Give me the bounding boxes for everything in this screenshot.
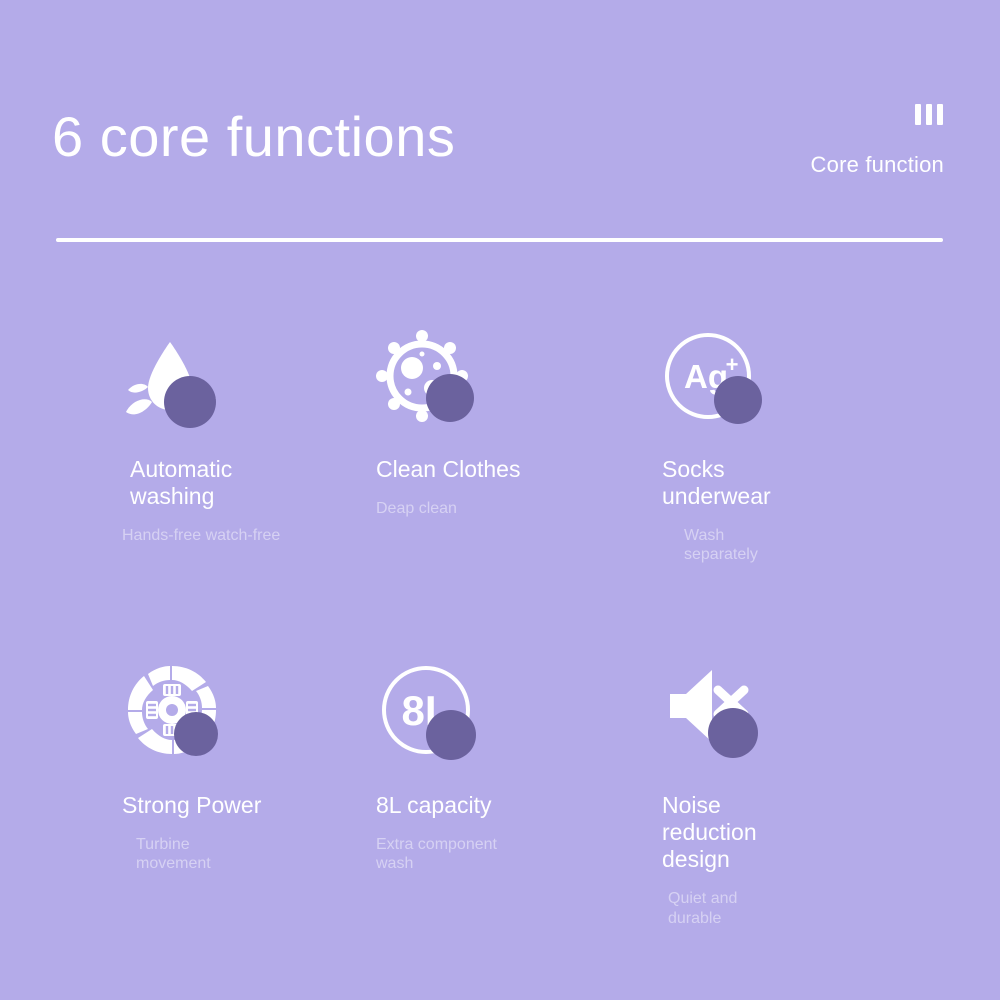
feature-grid: Automatic washing Hands-free watch-free — [56, 330, 944, 990]
feature-title: Noise reduction design — [662, 792, 802, 873]
feature-title: Automatic washing — [122, 456, 282, 510]
feature-subtitle: Deap clean — [376, 499, 556, 518]
water-droplet-icon — [122, 330, 226, 434]
feature-subtitle: Quiet and durable — [662, 889, 762, 927]
accent-blob — [714, 376, 762, 424]
feature-subtitle: Extra component wash — [376, 835, 516, 873]
accent-blob — [164, 376, 216, 428]
feature-subtitle: Turbine movement — [122, 835, 242, 873]
feature-title: Clean Clothes — [376, 456, 556, 483]
feature-card-capacity: 8L 8L capacity Extra component wash — [352, 660, 648, 990]
feature-card-clean-clothes: Clean Clothes Deap clean — [352, 330, 648, 660]
germ-icon — [376, 330, 480, 434]
feature-title: Socks underwear — [662, 456, 792, 510]
feature-title: 8L capacity — [376, 792, 556, 819]
feature-card-noise-reduction: Noise reduction design Quiet and durable — [648, 660, 944, 990]
turbine-impeller-icon — [122, 660, 232, 770]
accent-blob — [426, 374, 474, 422]
accent-blob — [708, 708, 758, 758]
silver-ion-ag-plus-icon: Ag + — [662, 330, 766, 434]
three-bars-icon — [915, 104, 943, 125]
capacity-circle-icon: 8L — [376, 660, 486, 770]
bar-1 — [915, 104, 921, 125]
feature-card-strong-power: Strong Power Turbine movement — [56, 660, 352, 990]
header-divider — [56, 238, 943, 242]
muted-speaker-icon — [662, 660, 772, 770]
bar-3 — [937, 104, 943, 125]
eyebrow-label: Core function — [811, 152, 944, 178]
feature-title: Strong Power — [122, 792, 312, 819]
bar-2 — [926, 104, 932, 125]
accent-blob — [174, 712, 218, 756]
feature-subtitle: Hands-free watch-free — [122, 526, 297, 545]
feature-subtitle: Wash separately — [662, 526, 772, 564]
feature-card-socks-underwear: Ag + Socks underwear Wash separately — [648, 330, 944, 660]
feature-card-automatic-washing: Automatic washing Hands-free watch-free — [56, 330, 352, 660]
accent-blob — [426, 710, 476, 760]
svg-text:+: + — [726, 352, 739, 377]
page-title: 6 core functions — [52, 106, 455, 168]
